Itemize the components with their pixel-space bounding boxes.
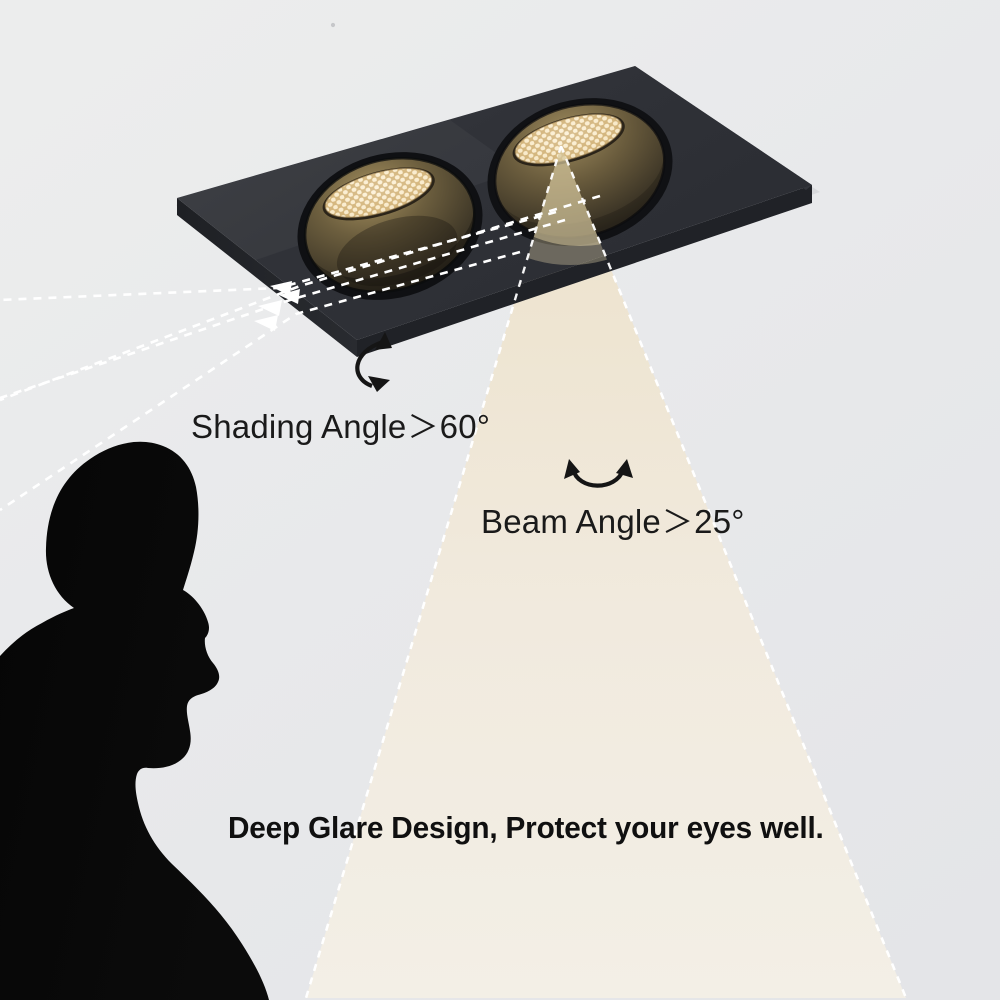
shading-angle-label: Shading Angle＞60° <box>191 402 490 447</box>
speck-artifact <box>331 23 335 27</box>
shading-angle-comparator: ＞ <box>406 410 439 445</box>
beam-angle-label: Beam Angle＞25° <box>481 497 745 542</box>
shading-angle-text: Shading Angle <box>191 408 406 445</box>
beam-angle-text: Beam Angle <box>481 503 661 540</box>
illustration-canvas: Shading Angle＞60° Beam Angle＞25° Deep Gl… <box>0 0 1000 1000</box>
tagline: Deep Glare Design, Protect your eyes wel… <box>228 810 824 846</box>
beam-angle-value: 25° <box>694 503 745 540</box>
beam-angle-comparator: ＞ <box>661 505 694 540</box>
shading-angle-value: 60° <box>440 408 491 445</box>
